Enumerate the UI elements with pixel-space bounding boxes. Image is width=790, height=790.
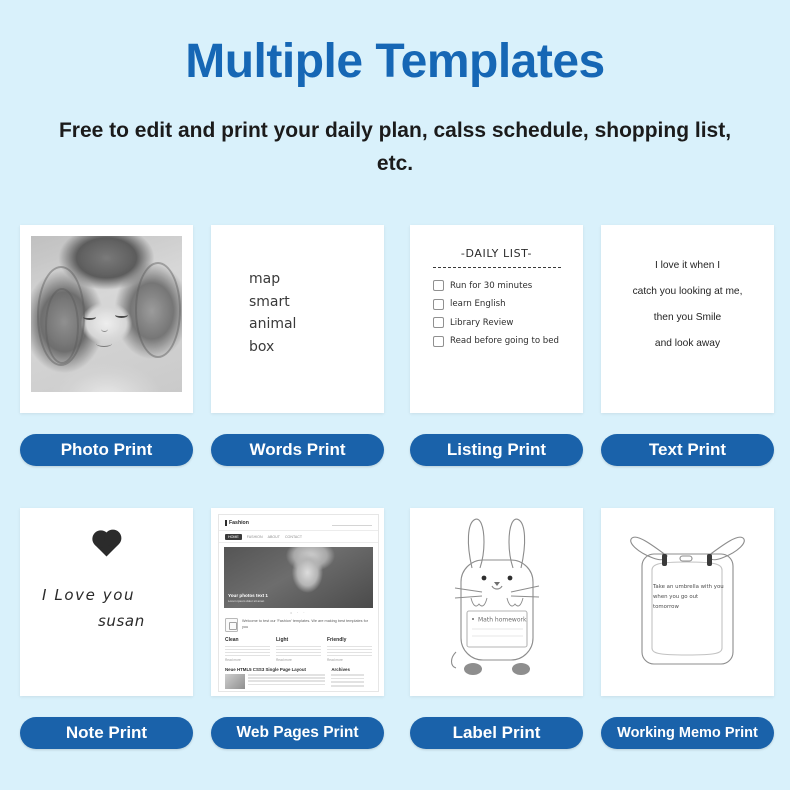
nav-item-home: HOME — [225, 534, 242, 540]
template-grid: Photo Print map smart animal box Words P… — [0, 0, 790, 790]
poem-line: then you Smile — [609, 305, 766, 331]
feature-columns: Clean Read more Light Read more Friendly — [219, 632, 378, 662]
card-listing-print[interactable]: -DAILY LIST- Run for 30 minutes learn En… — [410, 225, 583, 413]
hero-caption: Your photos text 1 Lorem ipsum dolor sit… — [228, 593, 268, 603]
word-list-item: animal — [249, 313, 296, 336]
template-cell-photo-print: Photo Print — [20, 225, 193, 466]
checkbox-icon[interactable] — [433, 336, 444, 347]
bunny-eye-left-icon — [482, 576, 487, 581]
feature-column: Friendly Read more — [327, 637, 372, 662]
memo-clip-right-icon — [707, 554, 712, 566]
bunny-tail-icon — [452, 652, 457, 668]
checkbox-icon[interactable] — [433, 317, 444, 328]
bullet-icon — [472, 618, 474, 620]
page-root: Multiple Templates Free to edit and prin… — [0, 0, 790, 790]
note-ruled-lines — [472, 629, 523, 636]
feature-column: Clean Read more — [225, 637, 270, 662]
webpage-header: Fashion — [219, 515, 378, 531]
memo-text: Take an umbrella with you when you go ou… — [653, 582, 725, 612]
button-web-pages-print[interactable]: Web Pages Print — [211, 717, 384, 749]
label-text: Math homework — [478, 617, 527, 624]
template-cell-listing-print: -DAILY LIST- Run for 30 minutes learn En… — [410, 225, 583, 466]
bunny-label-illustration: Math homework — [410, 508, 583, 696]
footer-thumbnail — [225, 674, 245, 689]
placeholder-lines — [276, 646, 321, 657]
poem-line: and look away — [609, 331, 766, 357]
checklist-item-label: learn English — [450, 299, 506, 309]
template-cell-working-memo-print: Take an umbrella with you when you go ou… — [601, 508, 774, 749]
poem-line: catch you looking at me, — [609, 279, 766, 305]
memo-ear-left-icon — [631, 537, 667, 560]
card-label-print[interactable]: Math homework — [410, 508, 583, 696]
feature-title: Friendly — [327, 637, 372, 643]
card-text-print[interactable]: I love it when I catch you looking at me… — [601, 225, 774, 413]
template-cell-label-print: Math homework Label Print — [410, 508, 583, 749]
bunny-body-icon — [461, 560, 533, 660]
memo-clip-left-icon — [662, 554, 667, 566]
card-note-print[interactable]: I Love you susan — [20, 508, 193, 696]
checklist-item[interactable]: learn English — [433, 299, 573, 310]
hair-strand-icon — [135, 262, 181, 358]
bunny-nose-icon — [494, 582, 500, 586]
bunny-eye-right-icon — [508, 576, 513, 581]
daily-list-title: -DAILY LIST- — [410, 247, 583, 260]
webpage-footer: Neue HTML5 CSS3 Single Page Layout Archi… — [219, 662, 378, 689]
word-list: map smart animal box — [249, 268, 296, 359]
checklist: Run for 30 minutes learn English Library… — [433, 280, 573, 354]
checklist-item-label: Read before going to bed — [450, 336, 559, 346]
template-cell-words-print: map smart animal box Words Print — [211, 225, 384, 466]
bunny-paw-left-icon — [471, 598, 487, 606]
checklist-item[interactable]: Run for 30 minutes — [433, 280, 573, 291]
footer-body — [225, 674, 325, 689]
placeholder-lines — [331, 674, 372, 686]
badge-icon — [225, 618, 238, 632]
footer-aside: Archives — [331, 667, 372, 689]
memo-hole-icon — [680, 556, 692, 561]
bunny-whiskers-left-icon — [455, 588, 482, 598]
button-listing-print[interactable]: Listing Print — [410, 434, 583, 466]
template-cell-text-print: I love it when I catch you looking at me… — [601, 225, 774, 466]
site-logo: Fashion — [225, 520, 249, 526]
nav-item-contact: CONTACT — [285, 535, 302, 539]
mouth-icon — [96, 340, 112, 347]
button-note-print[interactable]: Note Print — [20, 717, 193, 749]
checkbox-icon[interactable] — [433, 280, 444, 291]
poem-line: I love it when I — [609, 253, 766, 279]
placeholder-lines — [248, 674, 325, 689]
feature-title: Light — [276, 637, 321, 643]
poem-text: I love it when I catch you looking at me… — [609, 253, 766, 357]
footer-main: Neue HTML5 CSS3 Single Page Layout — [225, 667, 325, 689]
bunny-foot-right-icon — [512, 663, 530, 675]
card-working-memo-print[interactable]: Take an umbrella with you when you go ou… — [601, 508, 774, 696]
dashed-divider — [433, 267, 561, 268]
webpage-nav: HOME FASHION ABOUT CONTACT — [219, 531, 378, 543]
welcome-block: Welcome to test our 'Fashion' templates.… — [219, 615, 378, 632]
feature-column: Light Read more — [276, 637, 321, 662]
photo-frame — [31, 236, 182, 392]
hero-image: Your photos text 1 Lorem ipsum dolor sit… — [224, 547, 373, 608]
word-list-item: map — [249, 268, 296, 291]
card-web-pages-print[interactable]: Fashion HOME FASHION ABOUT CONTACT Your … — [211, 508, 384, 696]
button-text-print[interactable]: Text Print — [601, 434, 774, 466]
card-photo-print[interactable] — [20, 225, 193, 413]
note-line-2: susan — [98, 612, 145, 630]
feature-title: Clean — [225, 637, 270, 643]
checklist-item-label: Run for 30 minutes — [450, 281, 532, 291]
card-words-print[interactable]: map smart animal box — [211, 225, 384, 413]
hero-subtitle: Lorem ipsum dolor sit amet — [228, 599, 268, 603]
footer-aside-title: Archives — [331, 667, 372, 672]
nose-icon — [101, 326, 108, 332]
checklist-item[interactable]: Library Review — [433, 317, 573, 328]
word-list-item: box — [249, 336, 296, 359]
bunny-paw-right-icon — [507, 598, 523, 606]
nav-item-fashion: FASHION — [247, 535, 263, 539]
feature-more-link: Read more — [225, 658, 270, 662]
checkbox-icon[interactable] — [433, 299, 444, 310]
feature-more-link: Read more — [276, 658, 321, 662]
hero-title: Your photos text 1 — [228, 593, 268, 598]
word-list-item: smart — [249, 291, 296, 314]
bunny-whiskers-right-icon — [511, 586, 539, 597]
search-icon — [332, 520, 372, 526]
bunny-foot-left-icon — [464, 663, 482, 675]
feature-more-link: Read more — [327, 658, 372, 662]
eye-icon — [115, 312, 128, 318]
footer-title: Neue HTML5 CSS3 Single Page Layout — [225, 667, 325, 672]
nav-item-about: ABOUT — [268, 535, 280, 539]
bunny-mouth-icon — [492, 586, 502, 589]
hair-strand-icon — [45, 288, 79, 364]
memo-ear-right-icon — [708, 537, 744, 560]
heart-icon — [94, 532, 118, 556]
template-cell-note-print: I Love you susan Note Print — [20, 508, 193, 749]
template-cell-web-pages-print: Fashion HOME FASHION ABOUT CONTACT Your … — [211, 508, 384, 749]
note-line-1: I Love you — [42, 586, 135, 604]
placeholder-lines — [327, 646, 372, 657]
checklist-item[interactable]: Read before going to bed — [433, 336, 573, 347]
button-working-memo-print[interactable]: Working Memo Print — [601, 717, 774, 749]
placeholder-lines — [225, 646, 270, 657]
eye-icon — [83, 314, 96, 320]
button-label-print[interactable]: Label Print — [410, 717, 583, 749]
button-photo-print[interactable]: Photo Print — [20, 434, 193, 466]
checklist-item-label: Library Review — [450, 318, 513, 328]
webpage-screenshot: Fashion HOME FASHION ABOUT CONTACT Your … — [218, 514, 379, 692]
button-words-print[interactable]: Words Print — [211, 434, 384, 466]
welcome-text: Welcome to test our 'Fashion' templates.… — [242, 618, 372, 630]
